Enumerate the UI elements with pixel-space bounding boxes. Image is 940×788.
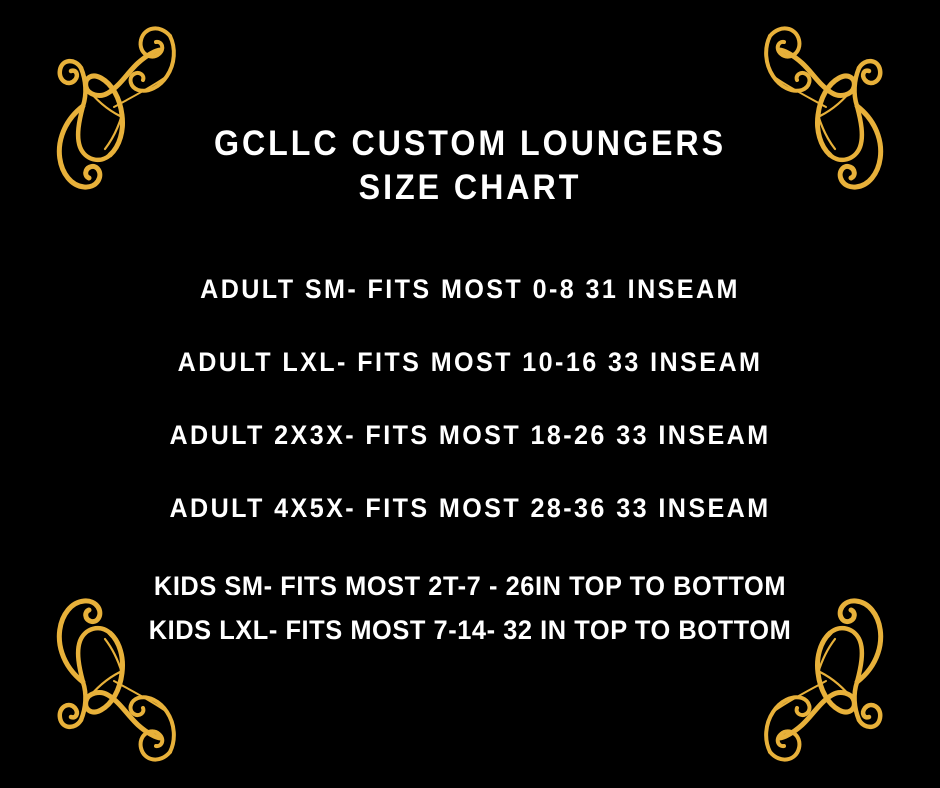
size-row-adult-sm: ADULT SM- FITS MOST 0-8 31 INSEAM	[33, 272, 907, 306]
size-row-adult-lxl: ADULT LXL- FITS MOST 10-16 33 INSEAM	[33, 345, 907, 379]
title-line-brand: GCLLC CUSTOM LOUNGERS	[38, 122, 903, 166]
size-row-adult-4x5x: ADULT 4X5X- FITS MOST 28-36 33 INSEAM	[33, 491, 907, 525]
title-line-subtitle: SIZE CHART	[38, 166, 903, 210]
size-row-adult-2x3x: ADULT 2X3X- FITS MOST 18-26 33 INSEAM	[33, 418, 907, 452]
size-row-kids-lxl: KIDS LXL- FITS MOST 7-14- 32 IN TOP TO B…	[28, 608, 912, 652]
size-chart-poster: GCLLC CUSTOM LOUNGERS SIZE CHART ADULT S…	[0, 0, 940, 788]
size-list: ADULT SM- FITS MOST 0-8 31 INSEAM ADULT …	[0, 272, 940, 652]
page-title: GCLLC CUSTOM LOUNGERS SIZE CHART	[0, 122, 940, 210]
size-row-kids-sm: KIDS SM- FITS MOST 2T-7 - 26IN TOP TO BO…	[28, 564, 912, 608]
